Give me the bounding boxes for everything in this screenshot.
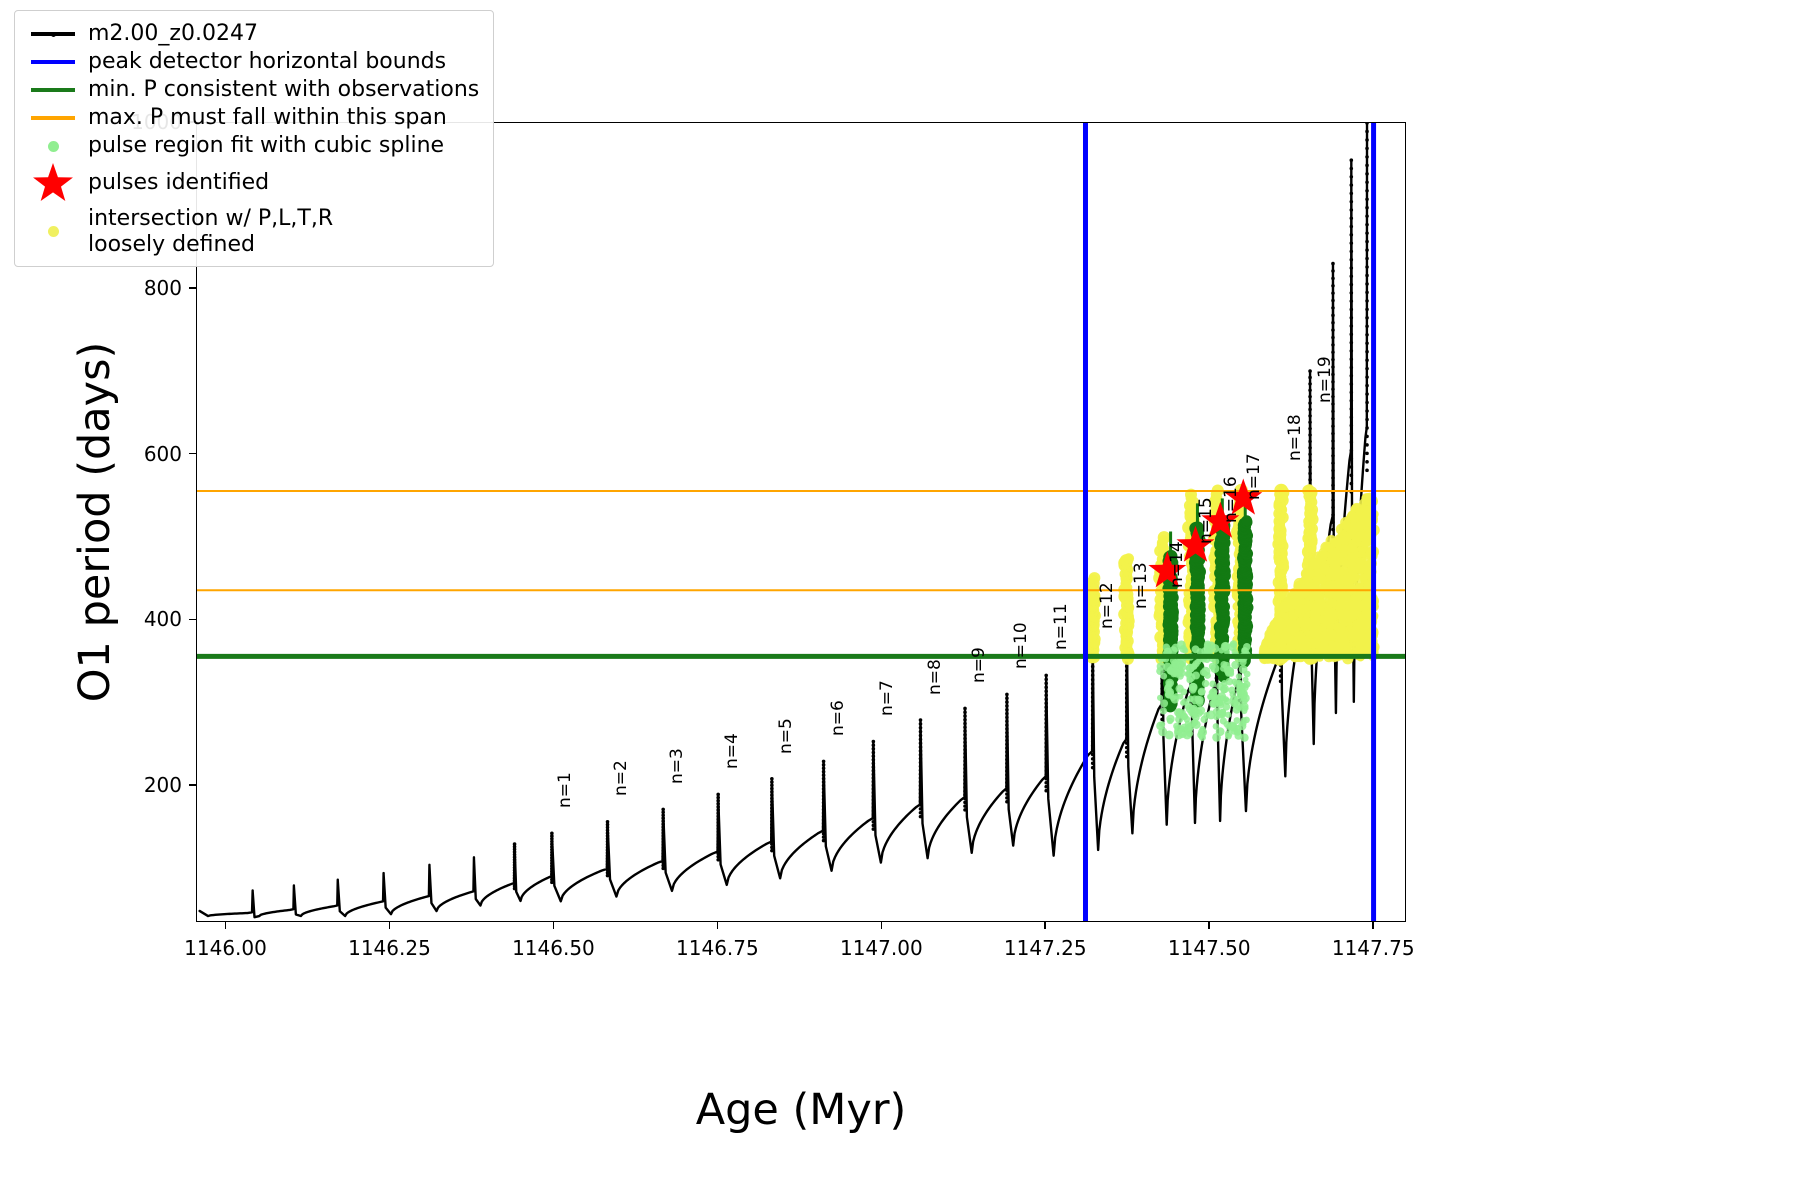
x-tick-label-1: 1146.25 [348, 936, 431, 960]
legend-marker-thick-line-icon [26, 60, 80, 65]
legend-label-3: max. P must fall within this span [80, 105, 447, 131]
x-axis-title: Age (Myr) [196, 1085, 1406, 1135]
x-tick-mark [1044, 922, 1046, 929]
x-tick-mark [1372, 922, 1374, 929]
y-tick-label-2: 600 [108, 442, 182, 466]
x-tick-label-4: 1147.00 [840, 936, 923, 960]
y-tick-label-3: 800 [108, 276, 182, 300]
legend-marker-dot-icon [26, 141, 80, 152]
legend-item-6: intersection w/ P,L,T,R loosely defined [26, 206, 479, 257]
legend-item-2: min. P consistent with observations [26, 76, 479, 104]
pulse-label-n14: n=14 [1167, 541, 1187, 588]
pulse-label-n4: n=4 [722, 734, 742, 770]
legend-label-5: pulses identified [80, 170, 269, 196]
legend-label-4: pulse region fit with cubic spline [80, 133, 444, 159]
y-tick-mark [189, 287, 196, 289]
pulse-label-n8: n=8 [925, 659, 945, 695]
x-tick-mark [389, 922, 391, 929]
x-tick-mark [881, 922, 883, 929]
legend-label-1: peak detector horizontal bounds [80, 49, 446, 75]
x-tick-mark [225, 922, 227, 929]
pulse-label-n10: n=10 [1011, 622, 1031, 669]
y-tick-label-0: 200 [108, 773, 182, 797]
y-tick-mark [189, 453, 196, 455]
pulse-label-n3: n=3 [667, 748, 687, 784]
legend-label-0: m2.00_z0.0247 [80, 21, 258, 47]
legend-item-3: max. P must fall within this span [26, 104, 479, 132]
pulse-label-n9: n=9 [969, 647, 989, 683]
x-tick-mark [553, 922, 555, 929]
y-tick-label-1: 400 [108, 607, 182, 631]
y-tick-mark [189, 619, 196, 621]
pulse-label-n16: n=16 [1221, 477, 1241, 524]
pulse-label-n12: n=12 [1097, 583, 1117, 630]
legend-marker-thick-line-icon [26, 88, 80, 93]
pulse-label-n18: n=18 [1285, 414, 1305, 461]
x-tick-label-0: 1146.00 [184, 936, 267, 960]
x-tick-label-7: 1147.75 [1332, 936, 1415, 960]
legend-label-6: intersection w/ P,L,T,R loosely defined [80, 206, 333, 257]
x-tick-label-5: 1147.25 [1004, 936, 1087, 960]
pulse-label-n6: n=6 [828, 700, 848, 736]
x-tick-label-3: 1146.75 [676, 936, 759, 960]
legend-item-4: pulse region fit with cubic spline [26, 132, 479, 160]
pulse-label-n1: n=1 [555, 772, 575, 808]
chart-page: Age (Myr) O1 period (days) 1146.001146.2… [0, 0, 1800, 1200]
y-tick-mark [189, 784, 196, 786]
x-tick-mark [1208, 922, 1210, 929]
legend-marker-line-with-dot-icon [26, 32, 80, 35]
pulse-label-n19: n=19 [1315, 356, 1335, 403]
legend-item-1: peak detector horizontal bounds [26, 48, 479, 76]
pulse-label-n5: n=5 [776, 718, 796, 754]
legend-marker-star-icon [26, 160, 80, 206]
pulse-label-n7: n=7 [877, 680, 897, 716]
legend-label-2: min. P consistent with observations [80, 77, 479, 103]
pulse-label-n2: n=2 [611, 760, 631, 796]
legend-item-5: pulses identified [26, 160, 479, 206]
pulse-label-n17: n=17 [1244, 453, 1264, 500]
pulse-label-n15: n=15 [1196, 497, 1216, 544]
legend-marker-dot-icon [26, 226, 80, 237]
chart-legend: m2.00_z0.0247peak detector horizontal bo… [14, 10, 494, 267]
pulse-label-n13: n=13 [1131, 563, 1151, 610]
x-tick-label-6: 1147.50 [1168, 936, 1251, 960]
pulse-label-n11: n=11 [1051, 603, 1071, 650]
x-tick-label-2: 1146.50 [512, 936, 595, 960]
legend-item-0: m2.00_z0.0247 [26, 20, 479, 48]
legend-marker-line-icon [26, 116, 80, 119]
x-tick-mark [717, 922, 719, 929]
